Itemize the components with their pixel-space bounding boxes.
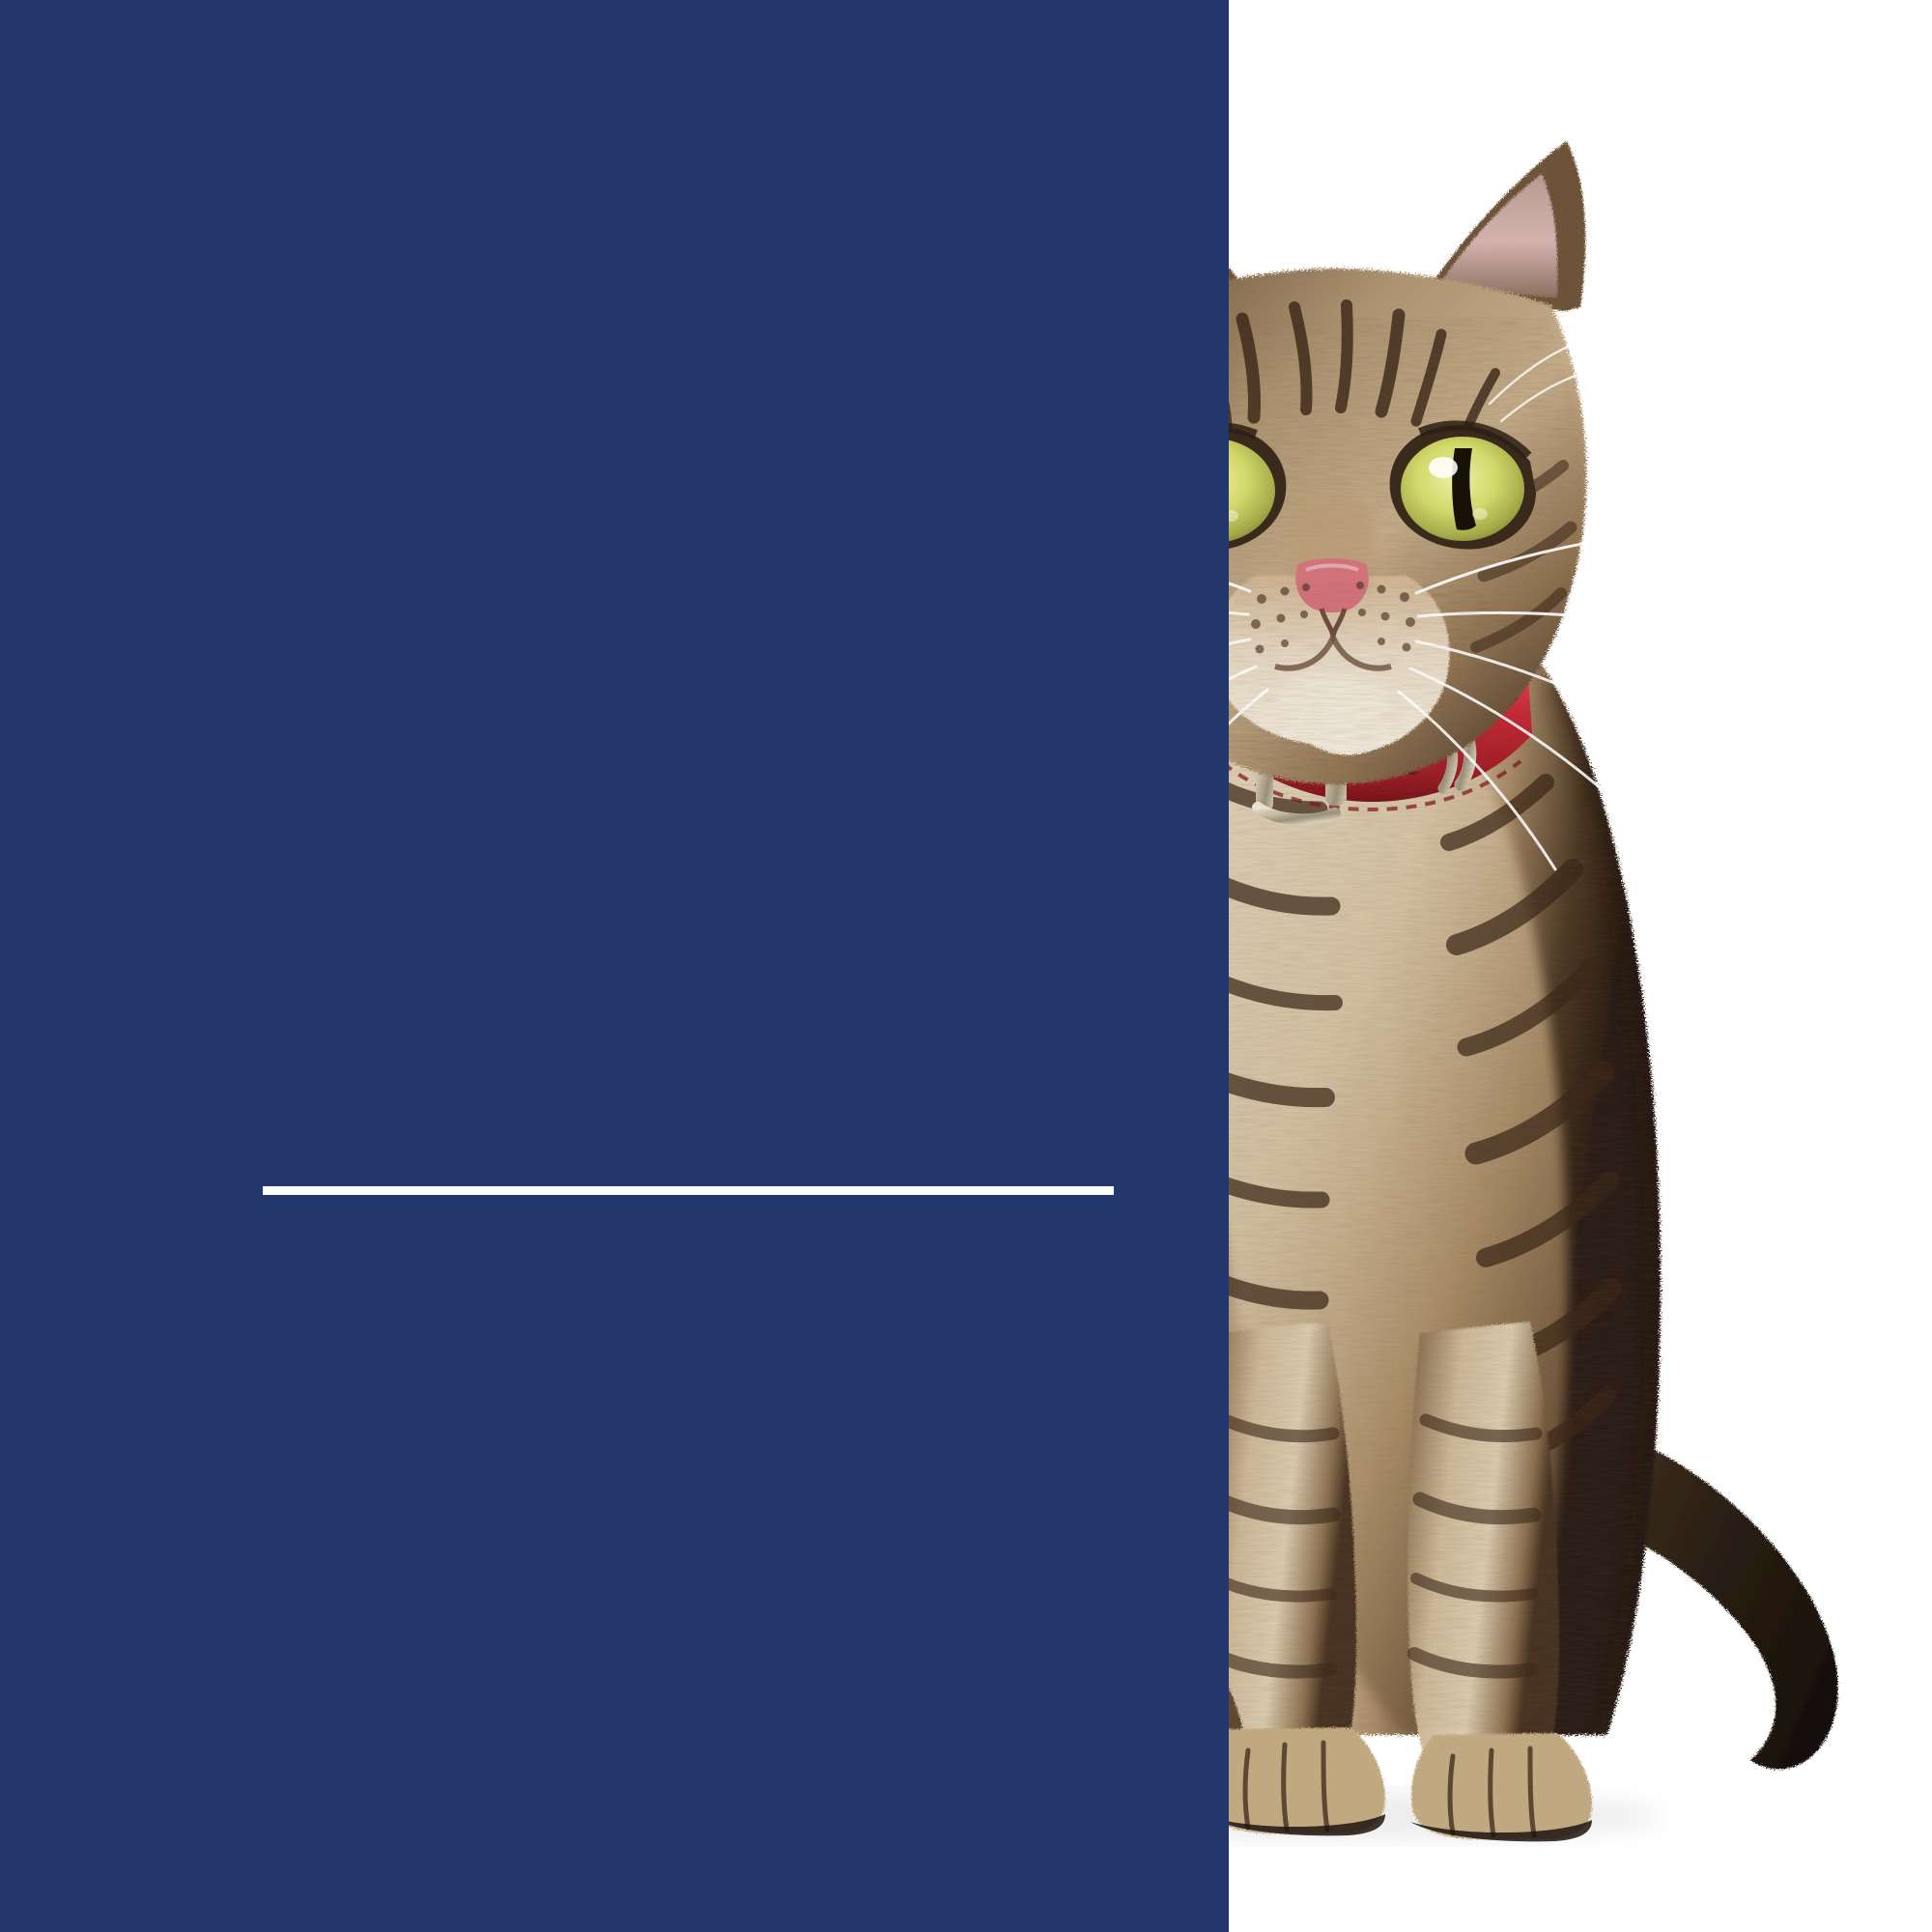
navy-panel — [0, 0, 1229, 1932]
benefit-divider — [263, 1186, 1114, 1195]
key-benefits-panel: KEY BENEFITS Healthy skin & fur with Ome… — [0, 0, 1932, 1932]
